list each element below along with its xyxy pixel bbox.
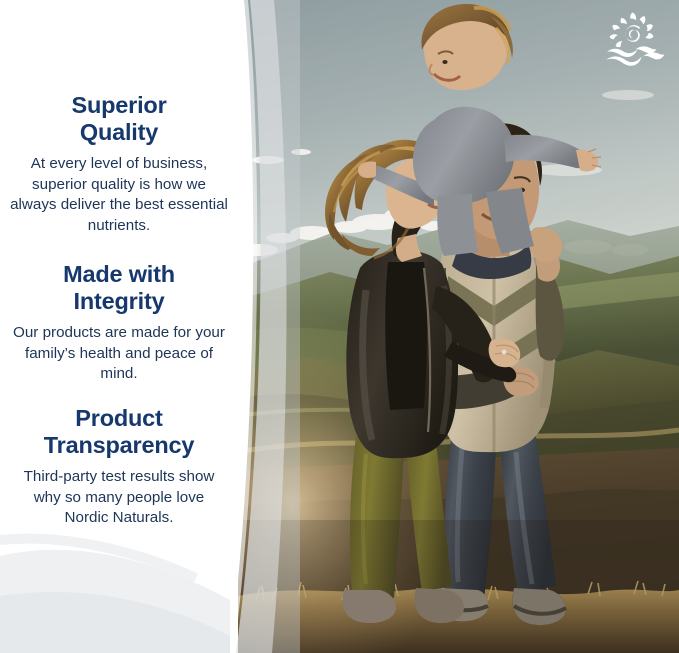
value-props-column: Superior Quality At every level of busin… xyxy=(0,0,238,653)
heading-line-2: Quality xyxy=(80,119,158,145)
heading-line-1: Superior xyxy=(71,92,166,118)
value-prop-superior-quality: Superior Quality At every level of busin… xyxy=(10,92,228,237)
heading-line-1: Product xyxy=(75,405,162,431)
value-prop-made-with-integrity: Made with Integrity Our products are mad… xyxy=(10,261,228,385)
value-prop-body: At every level of business, superior qua… xyxy=(10,154,228,237)
value-prop-product-transparency: Product Transparency Third-party test re… xyxy=(10,405,228,529)
value-prop-heading: Made with Integrity xyxy=(10,261,228,316)
value-prop-heading: Product Transparency xyxy=(10,405,228,460)
value-prop-heading: Superior Quality xyxy=(10,92,228,147)
promo-banner: Superior Quality At every level of busin… xyxy=(0,0,679,653)
family-lifestyle-photo xyxy=(238,0,679,653)
value-prop-body: Third-party test results show why so man… xyxy=(10,467,228,529)
value-prop-body: Our products are made for your family’s … xyxy=(10,323,228,385)
heading-line-2: Transparency xyxy=(44,432,194,458)
heading-line-2: Integrity xyxy=(74,288,165,314)
heading-line-1: Made with xyxy=(63,261,175,287)
